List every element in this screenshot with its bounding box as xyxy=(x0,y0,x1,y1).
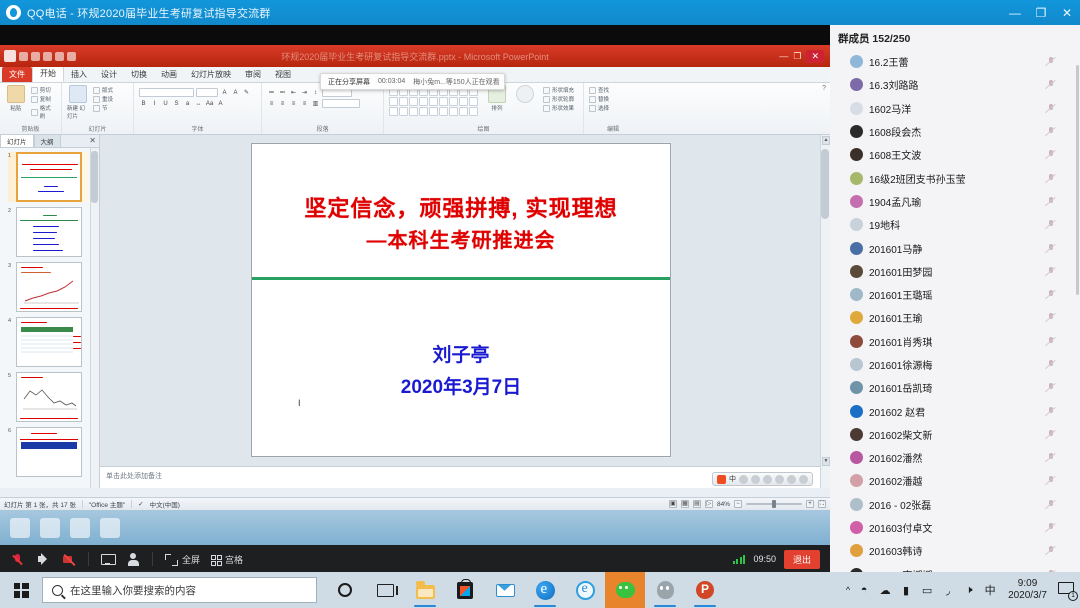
pen-icon[interactable] xyxy=(739,475,748,484)
shape-cell[interactable] xyxy=(399,97,408,106)
member-list-item[interactable]: 16级2班团支书孙玉莹 xyxy=(830,166,1080,189)
member-list-panel[interactable]: 群成员 152/250 16.2王蕾16.3刘路路1602马洋1608段会杰16… xyxy=(830,25,1080,572)
ppt-restore-button[interactable]: ❐ xyxy=(793,51,801,62)
ribbon-group-drawing[interactable]: 排列 形状填充 形状轮廓 形状效果 绘图 xyxy=(384,83,584,134)
member-list-item[interactable]: 19地科 xyxy=(830,213,1080,236)
powerpoint-title-bar[interactable]: 环规2020届毕业生考研复试指导交流群.pptx - Microsoft Pow… xyxy=(0,45,830,67)
member-name: 201602潘然 xyxy=(869,450,922,465)
tab-animations[interactable]: 动画 xyxy=(154,67,184,82)
share-duration: 00:03:04 xyxy=(378,78,405,85)
thumbnail-number: 6 xyxy=(8,427,14,477)
avatar xyxy=(850,381,863,394)
shape-fill-icon xyxy=(543,87,550,94)
mic-muted-icon[interactable] xyxy=(1045,149,1056,160)
notification-badge: 1 xyxy=(1068,591,1078,601)
copy-icon xyxy=(31,96,38,103)
member-name: 1904孟凡瑜 xyxy=(869,194,921,209)
taskbar-icons[interactable] xyxy=(325,572,725,608)
taskbar-app-qq[interactable] xyxy=(645,572,685,608)
member-name: 201601马静 xyxy=(869,241,922,256)
ime-mode-label[interactable]: 中 xyxy=(729,474,736,484)
mic-muted-icon[interactable] xyxy=(1045,429,1056,440)
members-button[interactable] xyxy=(126,552,141,567)
people-icon xyxy=(126,552,141,567)
format-painter-icon xyxy=(31,109,38,116)
mic-muted-icon[interactable] xyxy=(1045,312,1056,323)
member-name: 201601王璐瑶 xyxy=(869,287,932,302)
shape-cell[interactable] xyxy=(439,107,448,116)
thumbnail-item[interactable]: 2 xyxy=(8,207,89,257)
ribbon-group-paragraph[interactable]: ≔ ≕ ⇤ ⇥ ↕ ≡ ≡ ≡ ≡ ▥ xyxy=(262,83,384,134)
call-control-bar[interactable]: 全屏 宫格 09:50 退出 xyxy=(0,545,830,573)
mic-muted-icon[interactable] xyxy=(1045,126,1056,137)
zoom-slider-handle[interactable] xyxy=(772,500,776,508)
grid-label: 宫格 xyxy=(225,553,243,566)
font-size-select[interactable] xyxy=(196,88,218,97)
ppt-close-button[interactable]: ✕ xyxy=(806,50,824,63)
avatar xyxy=(850,451,863,464)
desktop-icon xyxy=(100,518,120,538)
quick-styles-button[interactable] xyxy=(514,85,536,103)
slide-editing-stage[interactable]: 坚定信念，顽强拼搏, 实现理想 —本科生考研推进会 刘子亭 2020年3月7日 … xyxy=(100,135,830,488)
copy-button[interactable]: 复制 xyxy=(31,95,56,103)
text-shadow-button[interactable]: S xyxy=(172,99,181,108)
cut-icon xyxy=(31,87,38,94)
shape-cell[interactable] xyxy=(459,107,468,116)
member-name: 201601田梦园 xyxy=(869,264,932,279)
taskbar-search-box[interactable]: 在这里输入你要搜索的内容 xyxy=(42,577,317,603)
tab-insert[interactable]: 插入 xyxy=(64,67,94,82)
mic-muted-icon[interactable] xyxy=(1045,522,1056,533)
call-bar-right: 09:50 退出 xyxy=(733,550,820,569)
increase-font-size-button[interactable]: A xyxy=(220,88,229,97)
member-list-item[interactable]: 2016 - 02张磊 xyxy=(830,493,1080,516)
view-sorter-button[interactable]: ▦ xyxy=(681,500,689,508)
start-button[interactable] xyxy=(0,572,42,608)
bold-button[interactable]: B xyxy=(139,99,148,108)
shape-cell[interactable] xyxy=(469,107,478,116)
avatar xyxy=(850,288,863,301)
increase-indent-button[interactable]: ⇥ xyxy=(300,88,309,97)
camera-button[interactable] xyxy=(62,552,77,567)
change-case-button[interactable]: Aa xyxy=(205,99,214,108)
search-placeholder: 在这里输入你要搜索的内容 xyxy=(70,583,196,598)
maximize-button[interactable]: ❐ xyxy=(1028,0,1054,25)
format-painter-button[interactable]: 格式刷 xyxy=(31,104,56,120)
member-list-item[interactable]: 201601王璐瑶 xyxy=(830,283,1080,306)
thumbnail-item[interactable]: 3 xyxy=(8,262,89,312)
action-center-button[interactable]: 1 xyxy=(1058,581,1076,599)
align-right-button[interactable]: ≡ xyxy=(289,99,298,108)
mic-muted-icon[interactable] xyxy=(1045,545,1056,556)
mic-muted-icon[interactable] xyxy=(1045,452,1056,463)
tab-outline[interactable]: 大纲 xyxy=(34,134,61,147)
justify-button[interactable]: ≡ xyxy=(300,99,309,108)
shape-cell[interactable] xyxy=(399,107,408,116)
powerpoint-window[interactable]: 环规2020届毕业生考研复试指导交流群.pptx - Microsoft Pow… xyxy=(0,45,830,510)
close-thumbnail-panel-icon[interactable]: ✕ xyxy=(89,136,96,145)
member-list-item[interactable]: 201603付卓文 xyxy=(830,516,1080,539)
keyboard-icon[interactable] xyxy=(787,475,796,484)
bullets-button[interactable]: ≔ xyxy=(267,88,276,97)
shape-cell[interactable] xyxy=(429,107,438,116)
mic-muted-icon[interactable] xyxy=(1045,173,1056,184)
strikethrough-button[interactable]: a xyxy=(183,99,192,108)
onedrive-icon[interactable]: ☁ xyxy=(878,583,892,597)
member-name: 16级2班团支书孙玉莹 xyxy=(869,171,966,186)
emoji-icon[interactable] xyxy=(751,475,760,484)
shape-cell[interactable] xyxy=(439,97,448,106)
ribbon-group-clipboard[interactable]: 粘贴 剪切 复制 格式刷 剪贴板 xyxy=(0,83,62,134)
section-label: 节 xyxy=(102,104,108,112)
language-indicator[interactable]: 中文(中国) xyxy=(150,499,180,509)
grid-icon xyxy=(211,555,222,566)
volume-icon[interactable]: 🕨 xyxy=(962,583,976,597)
select-button[interactable]: 选择 xyxy=(589,104,609,112)
mic-icon[interactable] xyxy=(763,475,772,484)
tab-slides[interactable]: 幻灯片 xyxy=(0,134,34,147)
mic-muted-icon[interactable] xyxy=(1045,243,1056,254)
avatar xyxy=(850,125,863,138)
ribbon[interactable]: 粘贴 剪切 复制 格式刷 剪贴板 xyxy=(0,83,830,135)
member-list-item[interactable]: 16.2王蕾 xyxy=(830,50,1080,73)
member-list-item[interactable]: 201601马静 xyxy=(830,236,1080,259)
view-reading-button[interactable]: ▤ xyxy=(693,500,701,508)
tab-file[interactable]: 文件 xyxy=(2,67,32,82)
shape-cell[interactable] xyxy=(409,107,418,116)
member-list-item[interactable]: 201601肖秀琪 xyxy=(830,330,1080,353)
reset-icon xyxy=(93,96,100,103)
minimize-button[interactable]: — xyxy=(1002,0,1028,25)
tab-design[interactable]: 设计 xyxy=(94,67,124,82)
font-family-select[interactable] xyxy=(139,88,194,97)
theme-name: "Office 主题" xyxy=(89,499,125,509)
align-center-button[interactable]: ≡ xyxy=(278,99,287,108)
taskbar-app-wechat[interactable] xyxy=(605,572,645,608)
slide-thumbnail-panel[interactable]: 幻灯片 大纲 ✕ 1 xyxy=(0,135,100,488)
layout-button[interactable]: 版式 xyxy=(93,86,113,94)
cortana-button[interactable] xyxy=(325,572,365,608)
tab-view[interactable]: 视图 xyxy=(268,67,298,82)
member-list-item[interactable]: 201601田梦园 xyxy=(830,260,1080,283)
shape-cell[interactable] xyxy=(469,97,478,106)
member-list-item[interactable]: 1608王文波 xyxy=(830,143,1080,166)
thumbnail-scroll-handle[interactable] xyxy=(91,151,98,203)
taskbar-app-mail[interactable] xyxy=(485,572,525,608)
grid-button[interactable]: 宫格 xyxy=(211,553,243,566)
ppt-minimize-button[interactable]: — xyxy=(779,51,788,61)
tab-slideshow[interactable]: 幻灯片放映 xyxy=(184,67,238,82)
new-slide-label: 新建 幻灯片 xyxy=(67,104,89,120)
signal-icon xyxy=(733,554,746,564)
shape-effects-label: 形状效果 xyxy=(552,104,574,112)
slide-scroll-handle[interactable] xyxy=(821,149,829,219)
speaker-button[interactable] xyxy=(36,552,51,567)
member-name: 201603付卓文 xyxy=(869,520,932,535)
select-icon xyxy=(589,105,596,112)
zoom-level[interactable]: 84% xyxy=(717,501,730,508)
character-spacing-button[interactable]: ↔ xyxy=(194,99,203,108)
toolbox-icon[interactable] xyxy=(799,475,808,484)
view-slideshow-button[interactable]: ▷ xyxy=(705,500,713,508)
mic-button[interactable] xyxy=(10,552,25,567)
usb-icon[interactable]: ▮ xyxy=(899,583,913,597)
replace-icon xyxy=(589,96,596,103)
mic-muted-icon[interactable] xyxy=(1045,289,1056,300)
member-list-item[interactable]: 201602 赵君 xyxy=(830,399,1080,422)
italic-button[interactable]: I xyxy=(150,99,159,108)
thumbnail-tabs[interactable]: 幻灯片 大纲 ✕ xyxy=(0,135,99,148)
avatar xyxy=(850,148,863,161)
find-button[interactable]: 查找 xyxy=(589,86,609,94)
member-name: 201603韩诗 xyxy=(869,543,922,558)
slide-subtitle-text[interactable]: 刘子亭 2020年3月7日 xyxy=(252,340,670,405)
reset-label: 重设 xyxy=(102,95,113,103)
thumbnail-item[interactable]: 4 xyxy=(8,317,89,367)
mic-muted-icon[interactable] xyxy=(1045,406,1056,417)
thumbnail-item[interactable]: 5 xyxy=(8,372,89,422)
screen-share-status-bar[interactable]: 正在分享屏幕 00:03:04 梅小兔m...等150人正在观看 xyxy=(320,73,505,90)
taskbar-app-powerpoint[interactable] xyxy=(685,572,725,608)
shape-effects-icon xyxy=(543,105,550,112)
speaker-icon xyxy=(36,552,51,567)
ie-icon xyxy=(576,581,595,600)
mic-muted-icon[interactable] xyxy=(1045,359,1056,370)
camera-off-icon xyxy=(62,552,77,567)
zoom-out-button[interactable]: − xyxy=(734,500,742,508)
thumbnail-list[interactable]: 1 2 xyxy=(0,148,99,481)
thumbnail-chart-icon xyxy=(19,383,81,413)
fullscreen-button[interactable]: 全屏 xyxy=(164,552,200,567)
member-list-item[interactable]: 16.3刘路路 xyxy=(830,73,1080,96)
reset-button[interactable]: 重设 xyxy=(93,95,113,103)
select-label: 选择 xyxy=(598,104,609,112)
member-list-item[interactable]: 1602马洋 xyxy=(830,97,1080,120)
line-spacing-button[interactable]: ↕ xyxy=(311,88,320,97)
thumbnail-item[interactable]: 1 xyxy=(8,152,89,202)
ime-toolbar[interactable]: 中 xyxy=(712,472,813,486)
decrease-indent-button[interactable]: ⇤ xyxy=(289,88,298,97)
show-hidden-icons-button[interactable]: ^ xyxy=(846,585,850,595)
wifi-icon[interactable]: ◞ xyxy=(941,583,955,597)
mic-muted-icon[interactable] xyxy=(1045,336,1056,347)
fit-to-window-button[interactable]: ⛶ xyxy=(818,500,826,508)
shape-cell[interactable] xyxy=(459,97,468,106)
ribbon-group-slides[interactable]: 新建 幻灯片 版式 重设 节 幻灯片 xyxy=(62,83,134,134)
thumbnail-scrollbar[interactable] xyxy=(90,148,99,488)
layout-label: 版式 xyxy=(102,86,113,94)
numbering-button[interactable]: ≕ xyxy=(278,88,287,97)
avatar xyxy=(850,311,863,324)
powerpoint-window-controls: — ❐ ✕ xyxy=(779,45,828,67)
underline-button[interactable]: U xyxy=(161,99,170,108)
scroll-down-icon[interactable]: ▼ xyxy=(822,457,830,466)
quick-styles-icon xyxy=(516,85,534,103)
group-label-drawing: 绘图 xyxy=(389,124,578,134)
ribbon-help-icon[interactable]: ? xyxy=(822,85,826,92)
thumbnail-number: 2 xyxy=(8,207,14,257)
screenshot-icon[interactable] xyxy=(775,475,784,484)
powerpoint-document-title: 环规2020届毕业生考研复试指导交流群.pptx - Microsoft Pow… xyxy=(0,50,830,63)
battery-icon[interactable]: ▭ xyxy=(920,583,934,597)
store-icon xyxy=(457,582,473,599)
taskbar-app-internet-explorer[interactable] xyxy=(565,572,605,608)
status-divider xyxy=(82,500,83,508)
shape-fill-button[interactable]: 形状填充 xyxy=(543,86,574,94)
thumbnail-preview xyxy=(16,262,82,312)
member-list-item[interactable]: 201601岳凯琦 xyxy=(830,376,1080,399)
shape-cell[interactable] xyxy=(429,97,438,106)
share-screen-button[interactable] xyxy=(100,552,115,567)
replace-button[interactable]: 替换 xyxy=(589,95,609,103)
group-label-editing: 编辑 xyxy=(589,124,637,134)
ribbon-group-editing[interactable]: 查找 替换 选择 编辑 xyxy=(584,83,642,134)
shape-effects-button[interactable]: 形状效果 xyxy=(543,104,574,112)
decrease-font-size-button[interactable]: A xyxy=(231,88,240,97)
desktop-icon xyxy=(70,518,90,538)
member-list-item[interactable]: 201602潘然 xyxy=(830,446,1080,469)
taskbar-app-file-explorer[interactable] xyxy=(405,572,445,608)
clock[interactable]: 9:09 2020/3/7 xyxy=(1004,578,1051,603)
ribbon-group-font[interactable]: A A ✎ B I U S a ↔ Aa A xyxy=(134,83,262,134)
mic-muted-icon[interactable] xyxy=(1045,103,1056,114)
status-divider xyxy=(131,500,132,508)
avatar xyxy=(850,195,863,208)
zoom-in-button[interactable]: + xyxy=(806,500,814,508)
slide-scrollbar[interactable]: ▲ ▼ xyxy=(820,135,830,488)
qq-title-bar[interactable]: QQ电话 - 环规2020届毕业生考研复试指导交流群 — ❐ ✕ xyxy=(0,0,1080,25)
shape-fill-label: 形状填充 xyxy=(552,86,574,94)
thumbnail-preview xyxy=(16,427,82,477)
mic-muted-icon[interactable] xyxy=(1045,219,1056,230)
mic-muted-icon[interactable] xyxy=(1045,475,1056,486)
slide-title-text[interactable]: 坚定信念，顽强拼搏, 实现理想 —本科生考研推进会 xyxy=(252,192,670,257)
task-view-button[interactable] xyxy=(365,572,405,608)
status-right-group[interactable]: ▣ ▦ ▤ ▷ 84% − + ⛶ xyxy=(669,500,826,508)
view-normal-button[interactable]: ▣ xyxy=(669,500,677,508)
member-list-header: 群成员 152/250 xyxy=(830,25,1080,50)
nvidia-icon[interactable]: ◓ xyxy=(857,583,871,597)
member-list-item[interactable]: 201601王瑜 xyxy=(830,306,1080,329)
member-list-item[interactable]: 201602潘越 xyxy=(830,469,1080,492)
thumbnail-number: 1 xyxy=(8,152,14,202)
clock-date: 2020/3/7 xyxy=(1008,590,1047,603)
member-list-item[interactable]: 201601徐源梅 xyxy=(830,353,1080,376)
member-list-item[interactable]: 1904孟凡瑜 xyxy=(830,190,1080,213)
shape-cell[interactable] xyxy=(409,97,418,106)
new-slide-button[interactable]: 新建 幻灯片 xyxy=(67,85,89,120)
powerpoint-workspace: 幻灯片 大纲 ✕ 1 xyxy=(0,135,830,488)
avatar xyxy=(850,102,863,115)
zoom-slider[interactable] xyxy=(746,503,802,505)
member-name: 1602马洋 xyxy=(869,101,911,116)
copy-label: 复制 xyxy=(40,95,51,103)
avatar xyxy=(850,265,863,278)
mic-muted-icon[interactable] xyxy=(1045,79,1056,90)
member-list-item[interactable]: 201602柴文新 xyxy=(830,423,1080,446)
mic-muted-icon[interactable] xyxy=(1045,56,1056,67)
fullscreen-label: 全屏 xyxy=(182,553,200,566)
cut-label: 剪切 xyxy=(40,86,51,94)
wechat-icon xyxy=(616,582,635,598)
tab-review[interactable]: 审阅 xyxy=(238,67,268,82)
system-tray[interactable]: ^ ◓ ☁ ▮ ▭ ◞ 🕨 中 9:09 2020/3/7 1 xyxy=(846,572,1080,608)
section-icon xyxy=(93,105,100,112)
share-screen-icon xyxy=(100,552,115,567)
tab-transitions[interactable]: 切换 xyxy=(124,67,154,82)
group-label-clipboard: 剪贴板 xyxy=(5,124,56,134)
current-slide[interactable]: 坚定信念，顽强拼搏, 实现理想 —本科生考研推进会 刘子亭 2020年3月7日 xyxy=(251,143,671,457)
scroll-up-icon[interactable]: ▲ xyxy=(822,136,830,145)
taskbar-app-microsoft-edge[interactable] xyxy=(525,572,565,608)
member-list-item[interactable]: 201603韩诗 xyxy=(830,539,1080,562)
shape-outline-label: 形状轮廓 xyxy=(552,95,574,103)
tab-home[interactable]: 开始 xyxy=(32,65,64,82)
section-button[interactable]: 节 xyxy=(93,104,113,112)
shared-screen-area[interactable]: 环规2020届毕业生考研复试指导交流群.pptx - Microsoft Pow… xyxy=(0,25,830,545)
columns-button[interactable]: ▥ xyxy=(311,99,320,108)
close-button[interactable]: ✕ xyxy=(1054,0,1080,25)
mic-muted-icon[interactable] xyxy=(1045,499,1056,510)
shape-cell[interactable] xyxy=(419,97,428,106)
member-name: 201602柴文新 xyxy=(869,427,932,442)
member-list-item[interactable]: 1608段会杰 xyxy=(830,120,1080,143)
shape-cell[interactable] xyxy=(449,107,458,116)
find-icon xyxy=(589,87,596,94)
shape-cell[interactable] xyxy=(419,107,428,116)
windows-taskbar[interactable]: 在这里输入你要搜索的内容 xyxy=(0,572,1080,608)
member-name: 1608王文波 xyxy=(869,147,921,162)
sogou-icon[interactable] xyxy=(717,475,726,484)
avatar xyxy=(850,335,863,348)
mic-muted-icon[interactable] xyxy=(1045,196,1056,207)
member-list[interactable]: 16.2王蕾16.3刘路路1602马洋1608段会杰1608王文波16级2班团支… xyxy=(830,50,1080,572)
taskbar-app-microsoft-store[interactable] xyxy=(445,572,485,608)
avatar xyxy=(850,544,863,557)
slide-title-line1: 坚定信念，顽强拼搏, 实现理想 xyxy=(252,192,670,226)
thumbnail-item[interactable]: 6 xyxy=(8,427,89,477)
slide-counter: 幻灯片 第 1 张，共 17 张 xyxy=(4,499,76,509)
divider xyxy=(152,552,153,566)
qq-logo-icon xyxy=(6,5,21,20)
align-left-button[interactable]: ≡ xyxy=(267,99,276,108)
shape-cell[interactable] xyxy=(449,97,458,106)
mic-muted-icon[interactable] xyxy=(1045,382,1056,393)
avatar xyxy=(850,498,863,511)
shape-cell[interactable] xyxy=(389,107,398,116)
spellcheck-icon[interactable]: ✓ xyxy=(138,500,143,508)
group-label-slides: 幻灯片 xyxy=(67,124,128,134)
share-status-label: 正在分享屏幕 xyxy=(328,77,370,87)
paste-button[interactable]: 粘贴 xyxy=(5,85,27,112)
shape-outline-button[interactable]: 形状轮廓 xyxy=(543,95,574,103)
avatar xyxy=(850,358,863,371)
window-controls: — ❐ ✕ xyxy=(1002,0,1080,25)
font-color-button[interactable]: A xyxy=(216,99,225,108)
member-list-scrollbar[interactable] xyxy=(1076,65,1079,295)
shape-cell[interactable] xyxy=(389,97,398,106)
ime-indicator[interactable]: 中 xyxy=(983,583,997,597)
mic-muted-icon[interactable] xyxy=(1045,266,1056,277)
mail-icon xyxy=(496,584,515,597)
member-list-item[interactable]: 201603李娜娜 xyxy=(830,563,1080,572)
remote-desktop-strip xyxy=(0,510,830,545)
member-name: 16.3刘路路 xyxy=(869,77,918,92)
cut-button[interactable]: 剪切 xyxy=(31,86,56,94)
exit-call-button[interactable]: 退出 xyxy=(784,550,820,569)
convert-smartart-button[interactable] xyxy=(322,99,360,108)
clear-formatting-button[interactable]: ✎ xyxy=(242,88,251,97)
